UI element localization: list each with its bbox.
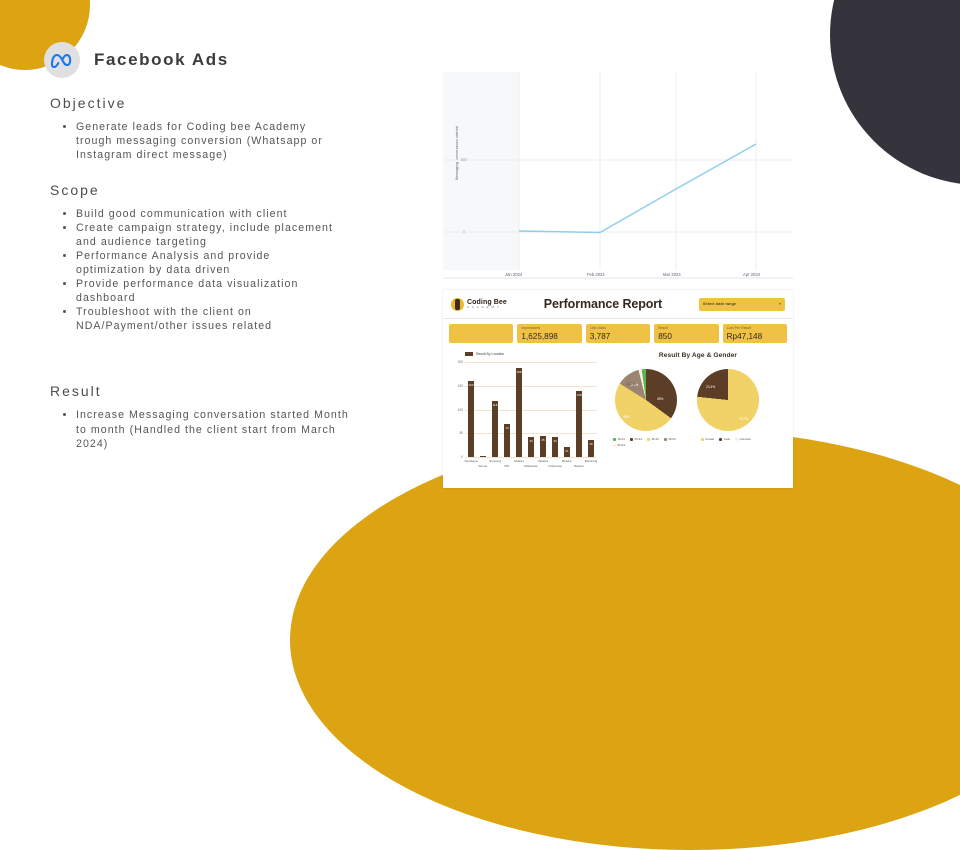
line-chart-messaging-conversations: Messaging conversation started 0 500 Jan… [443,72,793,287]
bar-chart-xtick: Surabaya [460,459,482,463]
section-heading-result: Result [50,383,350,399]
objective-bullet-list: Generate leads for Coding bee Academy tr… [62,120,340,162]
kpi-card-impressions[interactable]: Impressions 1,625,898 [517,324,581,343]
result-section: Result Increase Messaging conversation s… [50,383,350,452]
decor-circle-gold-bottom [290,430,960,850]
legend-label: male [724,437,730,441]
dashboard-charts-row: Result By Location 050100150200160Suraba… [443,347,793,481]
bar-chart-ytick: 50 [452,431,463,435]
legend-label: 35-44 [651,437,658,441]
kpi-card-blank[interactable] [449,324,513,343]
section-heading-objective: Objective [50,95,340,111]
bar-value-label: 160 [468,383,473,387]
legend-label: 55-64 [618,443,625,447]
bar-column: 21 [564,447,570,457]
bar-chart-result-by-location: Result By Location 050100150200160Suraba… [449,349,605,475]
pie-charts-title: Result By Age & Gender [609,349,787,359]
line-chart-xtick-feb: Feb 2024 [587,272,605,277]
kpi-value: Rp47,148 [727,331,783,342]
meta-logo-icon [44,42,80,78]
section-heading-scope: Scope [50,182,340,198]
bar-chart-xtick: Serpong [484,459,506,463]
bar-column: 118 [492,401,498,457]
pie-chart-age [615,369,677,431]
pie-age-legend: 18-2425-3435-4445-5455-64 [613,437,683,447]
legend-item: 55-64 [613,443,625,447]
pie-gender-legend: femalemaleunknown [701,437,761,441]
bar-column: 35 [588,440,594,457]
legend-item: 18-24 [613,437,625,441]
list-item: Performance Analysis and provide optimiz… [76,249,340,277]
pie-age-label-2534: 35% [657,397,663,401]
bar-column: 160 [468,381,474,457]
decor-circle-dark-top-right [830,0,960,185]
legend-label: 25-34 [634,437,641,441]
bar-chart-xtick: Sumer [472,464,494,468]
kpi-card-result[interactable]: Result 850 [654,324,718,343]
chevron-down-icon: ▾ [779,302,781,306]
dashboard-header: Coding Bee A C A D E M Y Performance Rep… [443,290,793,319]
bar-value-label: 70 [505,426,508,430]
legend-item: female [701,437,714,441]
bar-chart-legend: Result By Location [449,349,605,356]
performance-dashboard: Coding Bee A C A D E M Y Performance Rep… [443,290,793,488]
bar-chart-xtick: PIK [496,464,518,468]
kpi-value: 850 [658,331,714,342]
bar-chart-xtick: Jakarta [532,459,554,463]
bar-chart-ytick: 200 [452,360,463,364]
left-content-column: Objective Generate leads for Coding bee … [50,95,340,333]
pie-charts-result-by-age-gender: Result By Age & Gender 2.1% 35% 48% 12.7… [609,349,787,475]
bar-column: 43 [552,437,558,457]
legend-label: 45-54 [668,437,675,441]
legend-item: 45-54 [664,437,676,441]
date-range-label: Select date range [703,302,736,306]
bar-column: 188 [516,368,522,457]
list-item: Troubleshoot with the client on NDA/Paym… [76,305,340,333]
brand-row: Facebook Ads [44,42,229,78]
bar-value-label: 43 [529,439,532,443]
kpi-value: 3,787 [590,331,646,342]
bar-value-label: 118 [493,403,498,407]
date-range-select[interactable]: Select date range ▾ [699,298,785,311]
legend-swatch [701,438,704,441]
bar-chart-xtick: Bekasi [568,464,590,468]
legend-label: 18-24 [618,437,625,441]
brand-subtitle: A C A D E M Y [467,306,507,309]
bar-value-label: 21 [565,449,568,453]
list-item: Create campaign strategy, include placem… [76,221,340,249]
bar-column: 70 [504,424,510,457]
bar-value-label: 45 [541,438,544,442]
legend-item: 35-44 [647,437,659,441]
pie-age-label-3544: 48% [623,415,629,419]
kpi-card-cost-per-result[interactable]: Cost Per Result Rp47,148 [723,324,787,343]
gridline [465,457,597,458]
bar-chart-ytick: 150 [452,384,463,388]
pie-chart-gender [697,369,759,431]
legend-label: unknown [739,437,751,441]
bar-value-label: 35 [589,442,592,446]
legend-swatch [647,438,650,441]
list-item: Generate leads for Coding bee Academy tr… [76,120,340,162]
line-chart-xtick-jan: Jan 2024 [505,272,522,277]
list-item: Increase Messaging conversation started … [76,408,350,452]
bar-value-label: 43 [553,439,556,443]
legend-item: 25-34 [630,437,642,441]
legend-swatch [613,444,616,447]
bar-chart-xtick: Medan [508,459,530,463]
kpi-value: 1,625,898 [521,331,577,342]
pie-gender-label-female: 76.7% [739,417,748,421]
legend-swatch [613,438,616,441]
legend-swatch [735,438,738,441]
bar-chart-xtick: Bandung [580,459,602,463]
legend-label: Result By Location [476,352,504,356]
legend-swatch [664,438,667,441]
kpi-row: Impressions 1,625,898 Link clicks 3,787 … [443,319,793,347]
bee-logo-mark [451,298,464,311]
scope-bullet-list: Build good communication with client Cre… [62,207,340,333]
line-chart-xtick-apr: Apr 2024 [743,272,760,277]
legend-label: female [706,437,715,441]
bee-logo-icon: Coding Bee A C A D E M Y [451,298,507,311]
legend-swatch [465,352,473,356]
bar-value-label: 138 [576,393,581,397]
legend-item: male [719,437,730,441]
bar-column: 45 [540,436,546,457]
line-chart-plot [443,72,793,287]
bar-chart-xtick: Makassar [520,464,542,468]
list-item: Provide performance data visualization d… [76,277,340,305]
kpi-card-link-clicks[interactable]: Link clicks 3,787 [586,324,650,343]
legend-swatch [719,438,722,441]
pie-age-label-4554: 12.7% [626,382,635,386]
line-chart-xtick-mar: Mar 2024 [663,272,681,277]
brand-text: Coding Bee A C A D E M Y [467,299,507,309]
list-item: Build good communication with client [76,207,340,221]
bar-column: 43 [528,437,534,457]
pie-gender-label-male: 23.3% [706,385,715,389]
page-title: Facebook Ads [94,50,229,70]
bar-column: 2 [480,456,486,457]
gridline [465,386,597,387]
bar-value-label: 188 [516,370,521,374]
bar-chart-ytick: 100 [452,408,463,412]
bar-chart-xtick: Indonesia [544,464,566,468]
dashboard-title: Performance Report [513,297,693,311]
bar-chart-plot: 050100150200160Surabaya2Sumer118Serpong7… [465,362,597,457]
legend-swatch [630,438,633,441]
gridline [465,362,597,363]
legend-item: unknown [735,437,751,441]
bar-column: 138 [576,391,582,457]
bar-chart-xtick: Bintaro [556,459,578,463]
result-bullet-list: Increase Messaging conversation started … [62,408,350,452]
